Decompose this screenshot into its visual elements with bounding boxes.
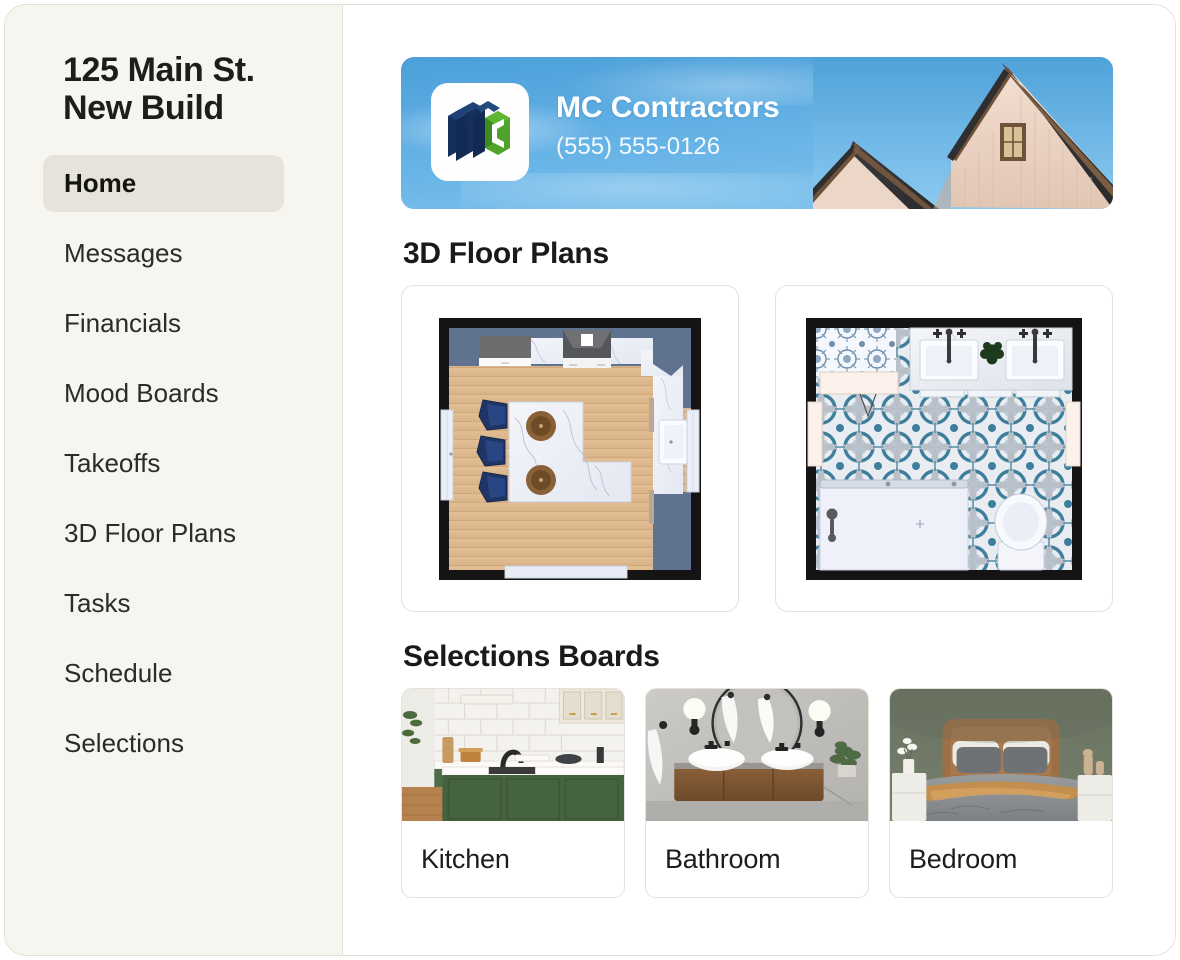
page-title: 125 Main St. New Build [5,51,342,127]
kitchen-thumbnail [402,689,624,821]
sidebar-item-mood-boards[interactable]: Mood Boards [43,365,284,422]
sidebar-item-home[interactable]: Home [43,155,284,212]
bathroom-floor-plan [802,314,1086,584]
sidebar-item-label: Schedule [64,658,172,689]
sidebar-item-label: Selections [64,728,184,759]
sidebar-item-label: Mood Boards [64,378,219,409]
house-photo [813,57,1113,209]
bathroom-thumbnail [646,689,868,821]
sidebar-item-label: Home [64,168,136,199]
mc-contractors-logo [442,94,518,170]
bedroom-thumbnail [890,689,1112,821]
selection-board-card-kitchen[interactable]: Kitchen [401,688,625,898]
sidebar-item-label: Financials [64,308,181,339]
selections-boards-heading: Selections Boards [403,640,1113,674]
sidebar-item-label: 3D Floor Plans [64,518,236,549]
sidebar-item-messages[interactable]: Messages [43,225,284,282]
sidebar-item-takeoffs[interactable]: Takeoffs [43,435,284,492]
sidebar-item-label: Messages [64,238,183,269]
contractor-banner[interactable]: MC Contractors (555) 555-0126 [401,57,1113,209]
selection-board-card-bathroom[interactable]: Bathroom [645,688,869,898]
sidebar-item-label: Tasks [64,588,130,619]
banner-text-group: MC Contractors (555) 555-0126 [556,89,780,165]
sidebar-nav: Home Messages Financials Mood Boards Tak… [5,155,342,785]
selection-board-label: Bedroom [890,821,1112,897]
floor-plan-card-bathroom[interactable] [775,285,1113,612]
floor-plans-row [401,285,1113,612]
app-window: 125 Main St. New Build Home Messages Fin… [4,4,1176,956]
selection-board-label: Kitchen [402,821,624,897]
sidebar-item-3d-floor-plans[interactable]: 3D Floor Plans [43,505,284,562]
logo-tile [431,83,529,181]
main-content: MC Contractors (555) 555-0126 3D Floor P… [343,5,1175,955]
sidebar-item-label: Takeoffs [64,448,160,479]
company-phone: (555) 555-0126 [556,129,780,165]
floor-plan-card-kitchen[interactable] [401,285,739,612]
company-name: MC Contractors [556,89,780,127]
sidebar: 125 Main St. New Build Home Messages Fin… [5,5,343,955]
floor-plans-heading: 3D Floor Plans [403,237,1113,271]
kitchen-floor-plan [435,314,705,584]
selection-board-label: Bathroom [646,821,868,897]
project-title-line2: New Build [63,89,316,127]
sidebar-item-selections[interactable]: Selections [43,715,284,772]
selection-board-card-bedroom[interactable]: Bedroom [889,688,1113,898]
sidebar-item-tasks[interactable]: Tasks [43,575,284,632]
sidebar-item-schedule[interactable]: Schedule [43,645,284,702]
sidebar-item-financials[interactable]: Financials [43,295,284,352]
project-title-line1: 125 Main St. [63,51,316,89]
selections-boards-row: Kitchen [401,688,1113,898]
